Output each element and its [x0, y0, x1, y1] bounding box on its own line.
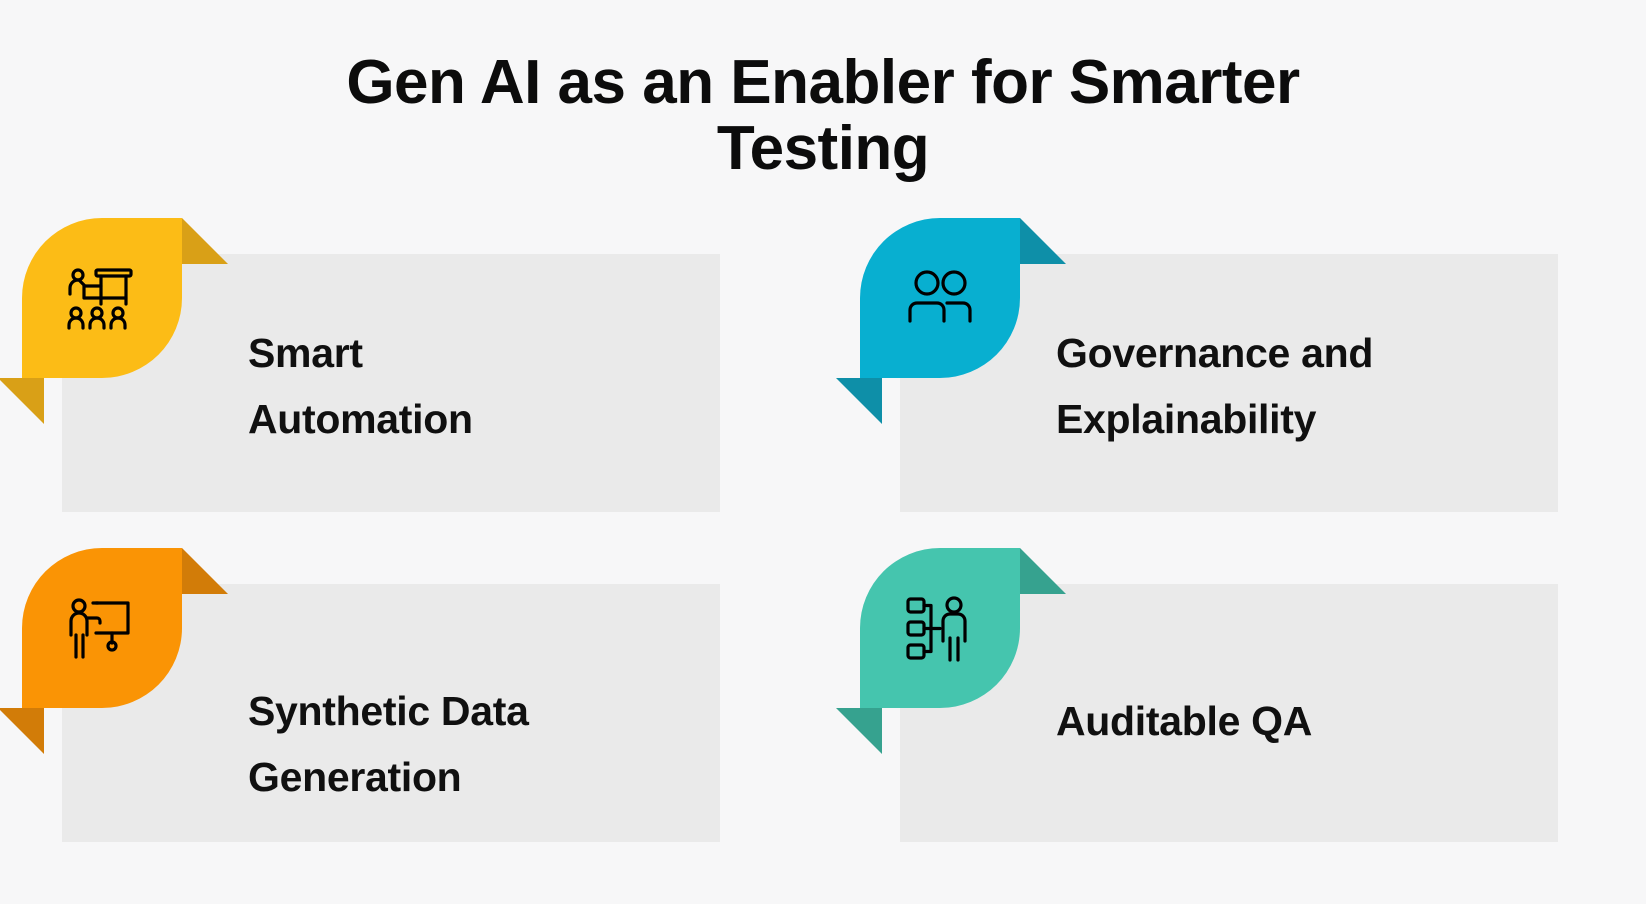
card-title: Synthetic Data Generation — [248, 678, 668, 811]
feature-card-auditable-qa[interactable]: Auditable QA — [838, 538, 1621, 878]
org-chart-person-icon — [860, 548, 1020, 708]
page-title-line-2: Testing — [233, 116, 1413, 183]
feature-card-synthetic-data-generation[interactable]: Synthetic Data Generation — [0, 538, 783, 878]
card-title-line-1: Auditable QA — [1056, 688, 1496, 754]
card-badge — [22, 548, 182, 708]
card-badge — [22, 218, 182, 378]
two-people-icon — [860, 218, 1020, 378]
card-title-line-2: Explainability — [1056, 386, 1496, 452]
card-title: Auditable QA — [1056, 688, 1496, 754]
presentation-audience-icon — [22, 218, 182, 378]
card-title: Smart Automation — [248, 320, 668, 453]
feature-card-smart-automation[interactable]: Smart Automation — [0, 208, 783, 548]
feature-cards-grid: Smart Automation Governance and — [0, 208, 1646, 888]
card-title-line-1: Smart — [248, 320, 668, 386]
card-title-line-1: Governance and — [1056, 320, 1496, 386]
card-title-line-2: Automation — [248, 386, 668, 452]
presenter-board-icon — [22, 548, 182, 708]
feature-card-governance-explainability[interactable]: Governance and Explainability — [838, 208, 1621, 548]
card-title-line-1: Synthetic Data — [248, 678, 668, 744]
card-title: Governance and Explainability — [1056, 320, 1496, 453]
page-title-line-1: Gen AI as an Enabler for Smarter — [233, 50, 1413, 117]
card-badge — [860, 548, 1020, 708]
card-title-line-2: Generation — [248, 744, 668, 810]
page-title: Gen AI as an Enabler for Smarter Testing — [0, 42, 1646, 184]
card-badge — [860, 218, 1020, 378]
